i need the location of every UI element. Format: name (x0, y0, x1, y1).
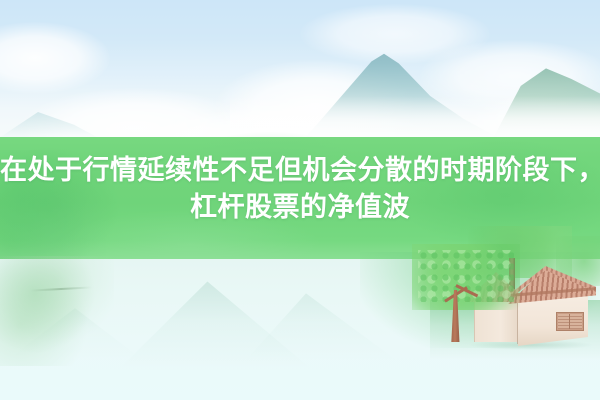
foreground-ground (0, 259, 600, 400)
cover-title-line-2: 杠杆股票的净值波 (0, 189, 600, 226)
cover-title-line-1: 在处于行情延续性不足但机会分散的时期阶段下， (0, 152, 600, 189)
sky-background (0, 0, 600, 142)
cover-title: 在处于行情延续性不足但机会分散的时期阶段下， 杠杆股票的净值波 (0, 152, 600, 226)
cover-image-canvas: 在处于行情延续性不足但机会分散的时期阶段下， 杠杆股票的净值波 (0, 0, 600, 400)
